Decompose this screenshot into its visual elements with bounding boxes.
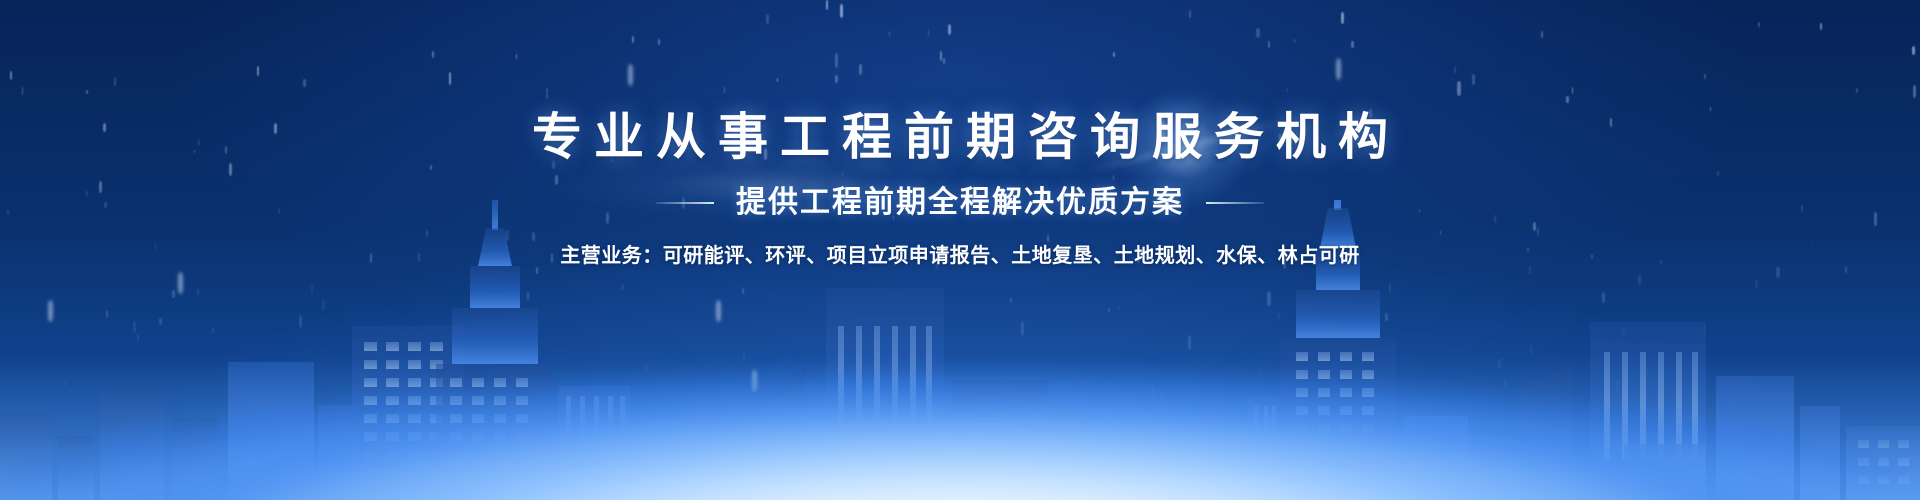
star-particle [257,66,259,76]
star-particle [546,88,548,98]
star-particle [658,39,660,45]
star-particle [1472,74,1475,84]
star-particle [274,123,277,133]
star-sparkle [1336,58,1341,80]
star-particle [194,150,196,154]
dash-right-icon [1206,202,1264,204]
star-particle [1820,23,1822,30]
star-particle [826,0,829,10]
star-particle [1541,31,1543,39]
star-particle [198,139,200,146]
star-particle [1113,52,1115,58]
star-particle [1717,171,1719,176]
star-particle [1189,10,1191,18]
star-particle [1268,41,1270,48]
star-particle [303,79,306,87]
star-particle [835,53,838,68]
star-particle [114,77,116,86]
banner-subtitle: 提供工程前期全程解决优质方案 [736,188,1184,218]
star-particle [449,72,452,85]
star-particle [1856,88,1858,93]
star-particle [943,58,945,64]
star-particle [103,123,106,132]
star-particle [1572,87,1574,95]
star-particle [1610,118,1612,127]
star-particle [1566,96,1569,103]
star-particle [229,163,232,176]
banner-subtitle-row: 提供工程前期全程解决优质方案 [656,188,1264,218]
star-particle [724,87,726,93]
star-particle [86,90,88,94]
star-particle [1913,85,1916,98]
star-particle [889,31,891,37]
star-particle [1256,28,1259,38]
star-particle [430,165,432,171]
star-particle [1341,12,1344,24]
star-sparkle [628,64,633,86]
star-particle [225,146,227,154]
star-particle [555,175,558,185]
star-particle [1457,81,1460,96]
star-particle [1351,41,1354,48]
star-particle [432,51,434,58]
hero-banner: 专业从事工程前期咨询服务机构 提供工程前期全程解决优质方案 主营业务：可研能评、… [0,0,1920,500]
star-particle [10,71,12,80]
dash-left-icon [656,202,714,204]
star-particle [632,36,634,43]
star-particle [1758,22,1760,28]
banner-services-line: 主营业务：可研能评、环评、项目立项申请报告、土地复垦、土地规划、水保、林占可研 [560,246,1360,266]
star-particle [1912,46,1915,55]
star-particle [840,4,843,18]
star-particle [1454,67,1455,73]
star-particle [1287,88,1289,92]
star-particle [1294,39,1296,43]
star-particle [928,29,930,37]
banner-headline: 专业从事工程前期咨询服务机构 [520,112,1400,162]
star-particle [835,75,838,84]
star-particle [940,51,942,61]
star-particle [22,87,24,95]
star-particle [99,181,102,193]
star-particle [86,191,87,195]
star-particle [948,24,951,35]
star-particle [1710,107,1712,111]
star-particle [859,64,862,75]
star-particle [516,54,517,59]
star-particle [1704,74,1706,79]
star-particle [766,14,768,24]
star-particle [842,172,843,177]
star-particle [777,78,779,82]
star-particle [1113,175,1114,180]
